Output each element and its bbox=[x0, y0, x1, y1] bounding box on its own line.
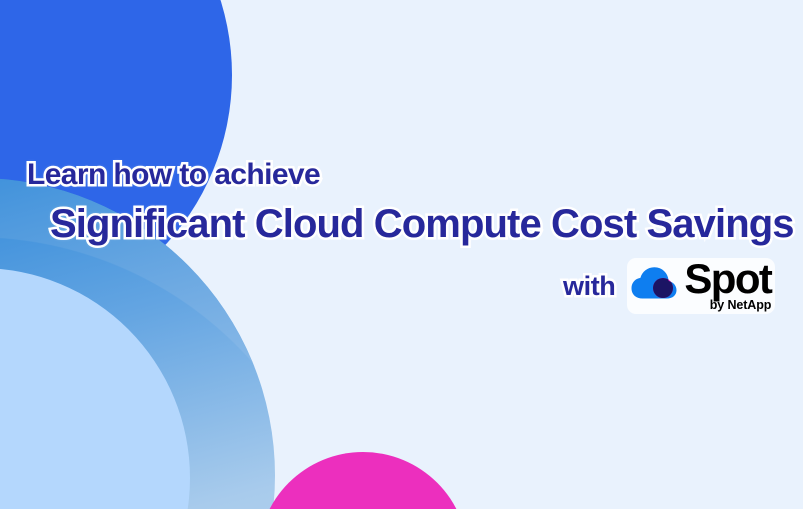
spot-byline: by NetApp bbox=[710, 298, 772, 312]
spot-wordmark: Spot bbox=[684, 261, 771, 297]
marketing-banner: Learn how to achieve Significant Cloud C… bbox=[0, 0, 803, 509]
spot-by-netapp-logo: Spot by NetApp bbox=[627, 258, 775, 314]
with-text: with bbox=[563, 273, 615, 300]
headline-text: Significant Cloud Compute Cost Savings bbox=[50, 204, 794, 244]
spot-wordmark-group: Spot by NetApp bbox=[684, 261, 771, 312]
banner-copy: Learn how to achieve Significant Cloud C… bbox=[0, 0, 803, 509]
spot-cloud-logo-icon bbox=[631, 264, 677, 304]
kicker-text: Learn how to achieve bbox=[27, 160, 320, 190]
logo-lockup: with bbox=[563, 258, 775, 314]
